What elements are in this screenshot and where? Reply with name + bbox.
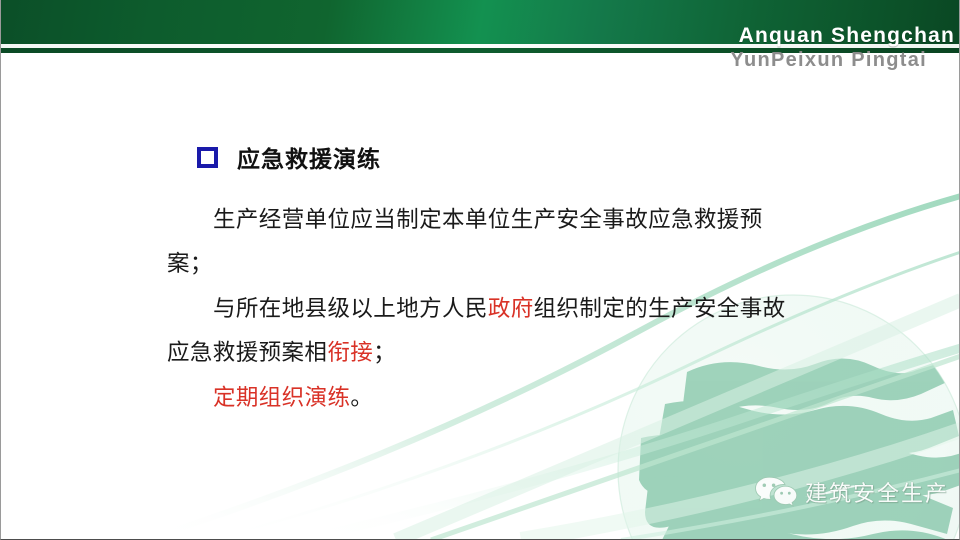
section-heading-label: 应急救援演练 [237,140,381,174]
hollow-square-bullet-icon [197,147,218,168]
paragraph-2-segment-1: 与所在地县级以上地方人民 [213,296,488,322]
paragraph-2: 与所在地县级以上地方人民政府组织制定的生产安全事故应急救援预案相衔接； [167,287,807,375]
paragraph-3: 定期组织演练。 [167,376,807,420]
paragraph-1: 生产经营单位应当制定本单位生产安全事故应急救援预案； [167,198,807,286]
paragraph-2-highlight-government: 政府 [488,296,534,322]
section-heading: 应急救援演练 [197,140,381,174]
paragraph-3-period: 。 [350,385,373,411]
wechat-icon [753,474,799,510]
watermark: 建筑安全生产 [753,474,949,510]
paragraph-3-highlight-drill: 定期组织演练 [213,385,350,411]
slide-content: 应急救援演练 生产经营单位应当制定本单位生产安全事故应急救援预案； 与所在地县级… [1,0,960,540]
slide-canvas: Anquan Shengchan YunPeixun Pingtai 应急救援演… [0,0,960,540]
watermark-label: 建筑安全生产 [805,476,949,508]
paragraph-1-text: 生产经营单位应当制定本单位生产安全事故应急救援预案； [167,207,763,277]
paragraph-2-segment-5: ； [373,340,396,366]
paragraph-2-highlight-link: 衔接 [327,340,373,366]
